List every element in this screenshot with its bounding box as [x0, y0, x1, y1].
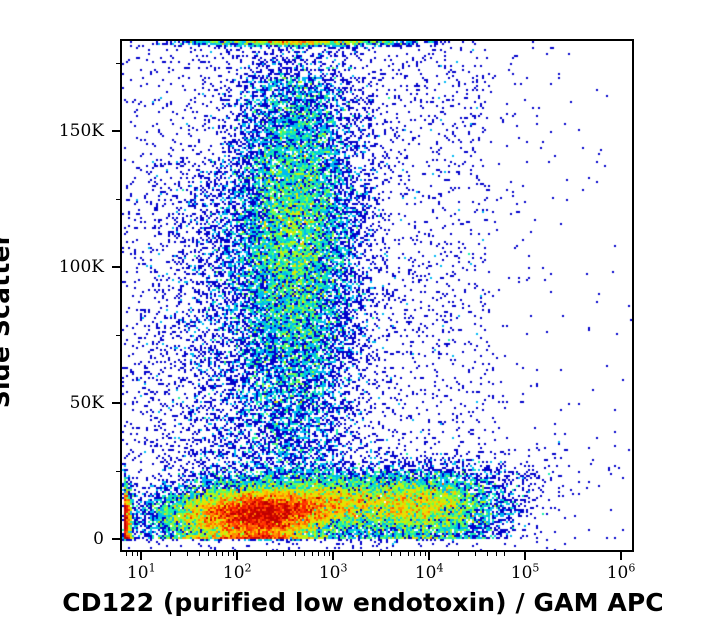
x-tick-minor [233, 551, 234, 556]
x-tick-label: 101 [127, 563, 156, 583]
x-tick-minor [222, 551, 223, 556]
x-tick-minor [487, 551, 488, 556]
x-tick-label-base: 10 [607, 563, 629, 583]
x-tick-label: 103 [319, 563, 348, 583]
x-tick-label-base: 10 [223, 563, 245, 583]
y-tick-label: 0 [40, 529, 104, 549]
y-tick-major [112, 130, 121, 132]
x-tick-minor [408, 551, 409, 556]
x-tick-label-exponent: 4 [436, 561, 443, 574]
x-tick-minor [504, 551, 505, 556]
x-tick-major [428, 551, 430, 560]
x-tick-minor [475, 551, 476, 556]
x-tick-minor [312, 551, 313, 556]
y-axis-title-text: Side Scatter [0, 233, 15, 408]
x-tick-minor [304, 551, 305, 556]
x-tick-label-exponent: 2 [245, 561, 252, 574]
x-tick-minor [324, 551, 325, 556]
x-tick-major [236, 551, 238, 560]
x-tick-label: 106 [607, 563, 636, 583]
x-tick-minor [199, 551, 200, 556]
x-tick-major [332, 551, 334, 560]
y-tick-minor [116, 63, 121, 64]
x-tick-minor [208, 551, 209, 556]
x-tick-minor [420, 551, 421, 556]
x-tick-label-base: 10 [127, 563, 149, 583]
x-tick-label-exponent: 3 [340, 561, 347, 574]
x-axis-title: CD122 (purified low endotoxin) / GAM APC [0, 588, 726, 617]
y-tick-major [112, 402, 121, 404]
x-tick-minor [266, 551, 267, 556]
y-tick-label: 50K [40, 393, 104, 413]
x-tick-major [140, 551, 142, 560]
x-tick-label: 102 [223, 563, 252, 583]
x-tick-major [524, 551, 526, 560]
x-tick-minor [228, 551, 229, 556]
x-tick-minor [283, 551, 284, 556]
x-tick-minor [400, 551, 401, 556]
x-tick-label-exponent: 5 [532, 561, 539, 574]
y-tick-label: 150K [40, 121, 104, 141]
y-tick-major [112, 538, 121, 540]
scatter-density-canvas [122, 41, 632, 550]
x-tick-minor [216, 551, 217, 556]
x-tick-label-base: 10 [415, 563, 437, 583]
x-tick-minor [295, 551, 296, 556]
x-tick-minor [126, 551, 127, 556]
x-tick-label-base: 10 [319, 563, 341, 583]
x-tick-minor [170, 551, 171, 556]
x-tick-minor [414, 551, 415, 556]
x-tick-label: 105 [511, 563, 540, 583]
x-tick-minor [187, 551, 188, 556]
x-tick-minor [496, 551, 497, 556]
y-tick-minor [116, 335, 121, 336]
x-tick-minor [132, 551, 133, 556]
x-tick-minor [391, 551, 392, 556]
x-axis-title-text: CD122 (purified low endotoxin) / GAM APC [62, 588, 663, 617]
x-tick-label-exponent: 1 [149, 561, 156, 574]
y-tick-minor [116, 471, 121, 472]
x-tick-major [620, 551, 622, 560]
x-tick-minor [458, 551, 459, 556]
x-tick-minor [425, 551, 426, 556]
y-tick-label: 100K [40, 257, 104, 277]
x-tick-minor [318, 551, 319, 556]
x-tick-label-base: 10 [511, 563, 533, 583]
x-tick-label: 104 [415, 563, 444, 583]
x-tick-minor [362, 551, 363, 556]
x-tick-minor [137, 551, 138, 556]
y-tick-major [112, 266, 121, 268]
plot-area [120, 39, 634, 552]
flow-cytometry-figure: Side Scatter 101102103104105106050K100K1… [0, 0, 726, 641]
y-tick-minor [116, 199, 121, 200]
x-tick-minor [329, 551, 330, 556]
x-tick-minor [379, 551, 380, 556]
x-tick-label-exponent: 6 [628, 561, 635, 574]
